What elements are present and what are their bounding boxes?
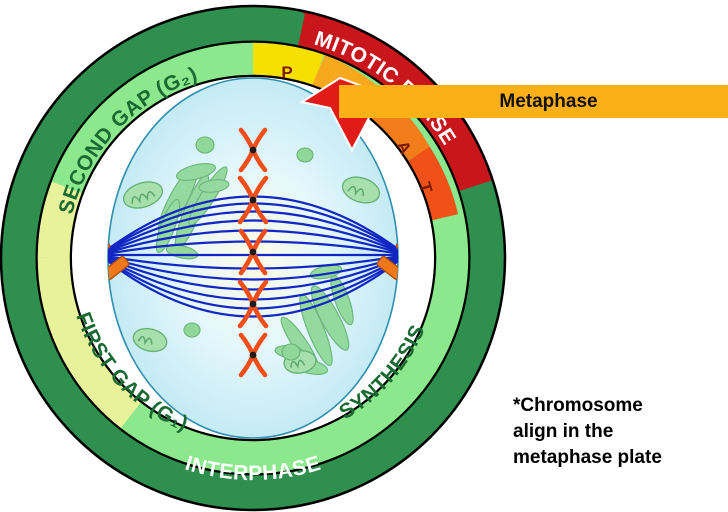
metaphase-caption: *Chromosome align in the metaphase plate — [513, 393, 723, 471]
metaphase-callout: Metaphase — [339, 85, 728, 118]
cell-cycle-figure: INTERPHASE MITOTIC PHASE SECOND GAP (G₂)… — [0, 0, 728, 512]
caption-line-2: align in the — [513, 419, 723, 445]
metaphase-banner-label: Metaphase — [339, 85, 728, 118]
label-prophase: P — [281, 63, 292, 82]
caption-line-3: metaphase plate — [513, 445, 723, 471]
caption-line-1: *Chromosome — [513, 393, 723, 419]
